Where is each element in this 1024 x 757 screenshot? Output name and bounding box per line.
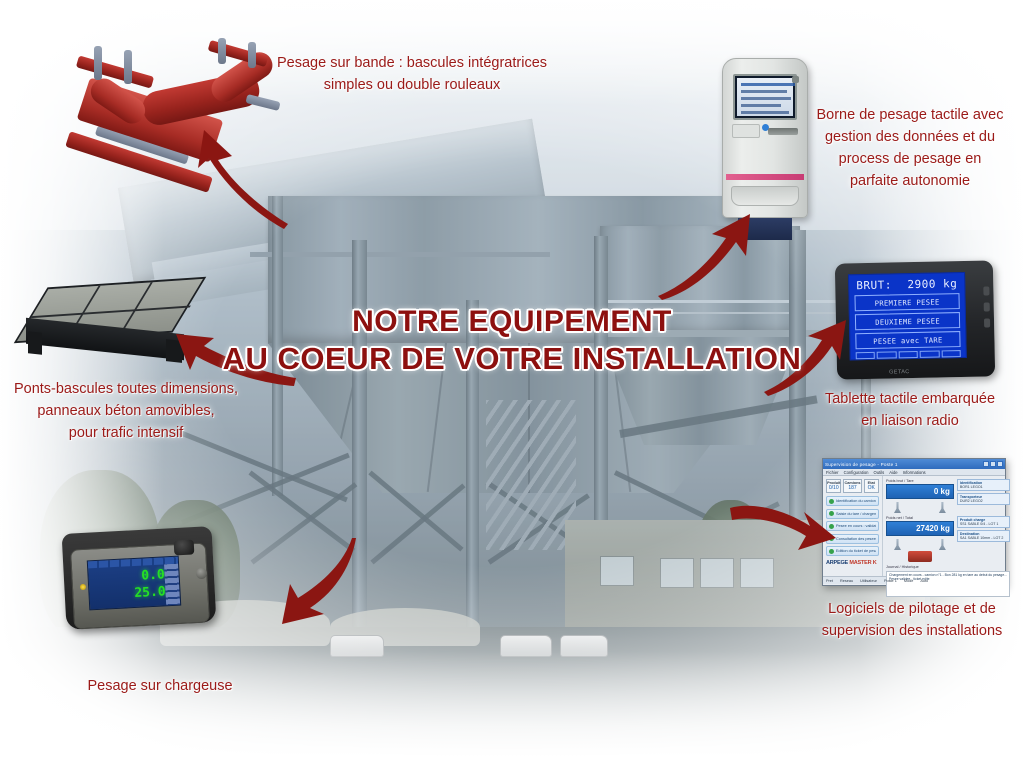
tablet-button-first-weighing[interactable]: PREMIERE PESEE [854,293,959,311]
caption-kiosk: Borne de pesage tactile avec gestion des… [800,104,1020,192]
load-cell-icon [894,539,901,550]
software-net-value: 27420 kg [886,521,954,536]
software-gross-block: Poids brut / Tare 0 kg [886,479,954,513]
product-software-screenshot[interactable]: Supervision de pesage - Poste 1 Fichier … [822,458,1006,586]
caption-loader: Pesage sur chargeuse [52,675,268,697]
close-icon[interactable] [997,461,1003,467]
kiosk-printer-tray[interactable] [731,186,799,206]
tablet-fkey-3[interactable] [898,351,918,358]
software-gross-label: Poids brut / Tare [886,479,954,483]
kiosk-display-content [737,78,793,116]
software-nav-label-0: Identification du camion [836,499,876,503]
software-chip-1-value: DUR2 LEGO2 [960,499,1007,503]
tablet-button-second-weighing[interactable]: DEUXIEME PESEE [855,312,960,330]
caption-software-line-1: Logiciels de pilotage et de [802,598,1022,620]
software-logo-suffix: MASTER K [849,560,876,566]
software-status-cards: Produit 0/10 Camions 187 Etat OK [826,479,879,493]
software-card-etat-value: OK [865,485,878,491]
software-net-block: Poids net / Total 27420 kg [886,516,954,562]
load-cell-icon [894,502,901,513]
tablet-gross-value: 2900 kg [907,277,957,291]
caption-weighbridge: Ponts-bascules toutes dimensions, pannea… [4,378,248,444]
caption-weighbridge-line-2: panneaux béton amovibles, [4,400,248,422]
weighbridge-end-cap-left [28,331,42,354]
arrow-to-kiosk [654,212,772,300]
software-menu-bar[interactable]: Fichier Configuration Outils Aide Inform… [823,469,1005,476]
tablet-side-buttons[interactable] [983,286,990,334]
arrow-to-belt-weigher [176,126,300,230]
poster-canvas: NOTRE EQUIPEMENT AU COEUR DE VOTRE INSTA… [0,0,1024,757]
caption-tablet-line-1: Tablette tactile embarquée [800,388,1020,410]
maximize-icon[interactable] [990,461,996,467]
product-rugged-tablet-photo: BRUT: 2900 kg PREMIERE PESEE DEUXIEME PE… [836,262,994,378]
software-card-produit-value: 0/10 [827,485,840,491]
software-card-produit: Produit 0/10 [826,479,841,493]
caption-belt-weigher-line-2: simples ou double rouleaux [262,74,562,96]
tablet-fkey-4[interactable] [920,350,940,357]
caption-tablet: Tablette tactile embarquée en liaison ra… [800,388,1020,432]
software-status-1: Reseau [840,579,853,583]
software-status-0: Pret [826,579,833,583]
software-title-bar: Supervision de pesage - Poste 1 [823,459,1005,469]
software-chip-transporteur: Transporteur DUR2 LEGO2 [957,493,1010,505]
software-main-panel: Poids brut / Tare 0 kg Identification BO… [883,476,1013,576]
caption-software: Logiciels de pilotage et de supervision … [802,598,1022,642]
loader-indicator-display[interactable]: 0.00 25.00 [87,556,181,611]
truck-icon [908,551,932,562]
software-status-2: Utilisateur [860,579,877,583]
product-weighbridge-photo [26,278,192,374]
minimize-icon[interactable] [983,461,989,467]
caption-kiosk-line-2: gestion des données et du [800,126,1020,148]
software-card-camions-value: 187 [844,485,860,491]
software-window-controls[interactable] [983,461,1003,467]
software-body: Produit 0/10 Camions 187 Etat OK Identif… [823,476,1005,576]
belt-weigher-stud-2 [124,50,132,84]
belt-weigher-adjuster-right [245,94,280,111]
software-identification-chips: Identification BOR1 LEGO1 Transporteur D… [957,479,1010,513]
caption-loader-line-1: Pesage sur chargeuse [52,675,268,697]
software-nav-label-3: Consultation des pesees du jour [836,537,876,541]
tablet-button-weighing-with-tare[interactable]: PESEE avec TARE [855,331,960,349]
kiosk-badge-reader[interactable] [732,124,760,138]
software-window-title: Supervision de pesage - Poste 1 [825,462,898,467]
caption-kiosk-line-1: Borne de pesage tactile avec [800,104,1020,126]
loader-indicator-side-keys[interactable] [164,564,180,608]
software-status-5: Auto [920,579,928,583]
software-chip-destination: Destination SA1 SABLE 10mm - LOT 2 [957,530,1010,542]
tablet-side-button-1[interactable] [983,286,989,295]
software-net-row: Poids net / Total 27420 kg Produit charg… [886,516,1010,562]
product-loader-indicator-photo: 0.00 25.00 [62,528,224,640]
loader-indicator-connector [196,568,207,579]
software-gross-value: 0 kg [886,484,954,499]
software-chip-produit: Produit charge SS1 SABLE 0/4 - LOT 1 [957,516,1010,528]
loader-indicator-mount-knob[interactable] [174,539,195,555]
software-nav-label-2: Pesee en cours : validation [836,524,876,528]
tablet-gross-label: BRUT: [856,278,892,292]
load-cell-icon [939,539,946,550]
caption-tablet-line-2: en liaison radio [800,410,1020,432]
software-card-camions: Camions 187 [843,479,861,493]
software-chip-0-value: BOR1 LEGO1 [960,485,1007,489]
software-nav-label-4: Edition du ticket de pesage [836,549,876,553]
software-menu-outils[interactable]: Outils [874,470,885,475]
software-status-4: Mode [904,579,914,583]
loader-indicator-power-led [80,584,86,590]
caption-weighbridge-line-1: Ponts-bascules toutes dimensions, [4,378,248,400]
tablet-brand-label: GETAC [889,369,910,375]
software-chip-identification: Identification BOR1 LEGO1 [957,479,1010,491]
software-nav-label-1: Saisie du tare / chargement [836,512,876,516]
tablet-side-button-2[interactable] [984,302,990,311]
tablet-side-button-3[interactable] [984,318,990,327]
tablet-fkey-1[interactable] [856,352,876,359]
software-gross-row: Poids brut / Tare 0 kg Identification BO… [886,479,1010,513]
tablet-fkey-5[interactable] [941,350,961,357]
software-net-label: Poids net / Total [886,516,954,520]
kiosk-ticket-slot[interactable] [768,128,798,135]
belt-weigher-stud-4 [248,42,256,68]
caption-belt-weigher-line-1: Pesage sur bande : bascules intégratrice… [262,52,562,74]
arrow-to-loader-indicator [266,536,364,628]
caption-software-line-2: supervision des installations [802,620,1022,642]
belt-weigher-stud-1 [94,46,102,80]
software-chip-2-value: SS1 SABLE 0/4 - LOT 1 [960,522,1007,526]
software-scale-graphic-top [886,499,954,513]
arrow-to-tablet [760,318,852,396]
caption-weighbridge-line-3: pour trafic intensif [4,422,248,444]
software-menu-fichier[interactable]: Fichier [826,470,839,475]
caption-kiosk-line-4: parfaite autonomie [800,170,1020,192]
software-menu-aide[interactable]: Aide [889,470,897,475]
software-log-panel[interactable]: Chargement en cours - camion n°1 - Bon 2… [886,571,1010,597]
tablet-housing: BRUT: 2900 kg PREMIERE PESEE DEUXIEME PE… [835,260,995,379]
software-chip-3-value: SA1 SABLE 10mm - LOT 2 [960,536,1007,540]
caption-kiosk-line-3: process de pesage en [800,148,1020,170]
tablet-function-keys[interactable] [856,350,961,359]
product-weighing-kiosk-photo [722,58,808,238]
software-product-chips: Produit charge SS1 SABLE 0/4 - LOT 1 Des… [957,516,1010,562]
kiosk-brand-stripe [726,174,804,180]
software-menu-informations[interactable]: Informations [903,470,926,475]
caption-belt-weigher: Pesage sur bande : bascules intégratrice… [262,52,562,96]
software-log-label: Journal / Historique [886,565,1010,569]
tablet-screen[interactable]: BRUT: 2900 kg PREMIERE PESEE DEUXIEME PE… [848,272,967,360]
software-menu-configuration[interactable]: Configuration [844,470,869,475]
tablet-fkey-2[interactable] [877,351,897,358]
load-cell-icon [939,502,946,513]
software-status-3: Poste 1 [884,579,897,583]
software-card-etat: Etat OK [864,479,879,493]
arrow-to-software [728,498,838,562]
kiosk-camera-icon [792,76,799,83]
kiosk-display [733,74,797,120]
belt-weigher-stud-3 [218,38,226,64]
software-scale-graphic-bottom [886,536,954,550]
